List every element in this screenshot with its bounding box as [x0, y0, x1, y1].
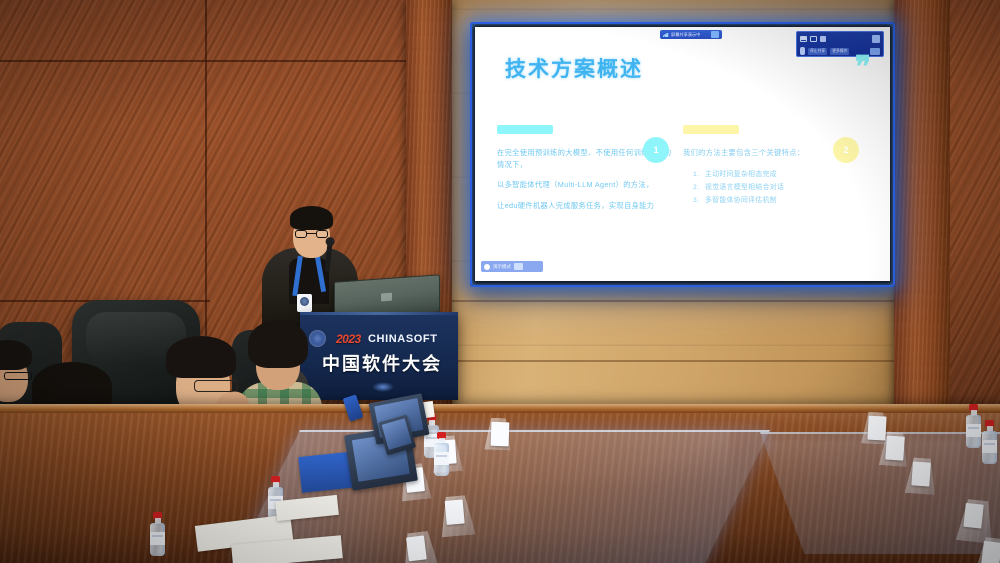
screen-share-status-bar[interactable]: 屏幕共享演示中 — [660, 30, 722, 39]
lens-left — [295, 230, 307, 238]
wall-seam — [0, 60, 450, 62]
stop-share-button[interactable]: 停止共享 — [808, 48, 827, 55]
alcove-seam — [447, 360, 894, 362]
card-line — [494, 422, 495, 439]
banner-brand-en: CHINASOFT — [368, 333, 438, 345]
bottle-label — [150, 532, 165, 545]
card-header — [982, 541, 984, 558]
water-bottle[interactable] — [150, 512, 168, 563]
card-line — [871, 416, 872, 433]
name-card-holder[interactable] — [484, 418, 511, 451]
wall-display[interactable]: 屏幕共享演示中 停止共享 更多操作 ❞ — [470, 22, 895, 287]
card-line — [921, 462, 922, 479]
card-line — [889, 436, 890, 453]
water-bottle[interactable] — [966, 404, 981, 448]
list-item-text: 主动时间复杂相态完成 — [705, 171, 777, 178]
screenshot-root: 屏幕共享演示中 停止共享 更多操作 ❞ — [0, 0, 1000, 563]
name-card — [981, 541, 1000, 563]
list-item-text: 视觉语言模型相结合对话 — [705, 184, 784, 191]
name-card-holder[interactable] — [438, 495, 475, 538]
card-line — [448, 501, 449, 518]
badge-circle-2: 2 — [833, 137, 859, 163]
share-status-label: 屏幕共享演示中 — [671, 32, 709, 38]
presenter-hair — [290, 206, 333, 230]
card-header — [868, 416, 869, 433]
card-header — [964, 503, 966, 520]
meeting-float-toolbar[interactable]: 停止共享 更多操作 — [796, 31, 884, 57]
card-header — [491, 422, 492, 439]
list-item: 2.视觉语言模型相结合对话 — [693, 181, 861, 194]
left-paragraph-2: 以多智能体代理（Multi-LLM Agent）的方法， — [497, 179, 675, 191]
card-line — [915, 462, 916, 479]
card-line — [967, 503, 969, 520]
footer-badge-label: 演示模式 — [493, 264, 511, 270]
water-bottle[interactable] — [982, 420, 997, 464]
slide-title: 技术方案概述 — [505, 53, 643, 83]
bottle-label — [434, 452, 449, 465]
slide-column-right: 我们的方法主要包含三个关键特点： 1.主动时间复杂相态完成 2.视觉语言模型相结… — [683, 125, 861, 207]
signal-bars-icon — [663, 32, 669, 37]
alcove-seam — [447, 300, 894, 302]
name-card — [406, 535, 427, 561]
lanyard-badge — [297, 294, 312, 312]
name-card-holder[interactable] — [400, 530, 441, 563]
list-item: 3.多智能体协同评估机制 — [693, 194, 861, 207]
stop-share-icon[interactable] — [820, 36, 826, 42]
glasses-bridge — [307, 233, 316, 234]
wood-pillar-right — [894, 0, 952, 430]
close-icon[interactable] — [872, 35, 880, 43]
maximize-icon[interactable] — [810, 36, 817, 42]
table-edge-trim — [0, 404, 1000, 413]
water-bottle[interactable] — [434, 432, 446, 468]
audio-wave-icon — [870, 48, 880, 55]
list-item: 1.主动时间复杂相态完成 — [693, 168, 861, 181]
microphone-icon[interactable] — [800, 47, 805, 55]
glasses-icon — [194, 380, 238, 392]
left-paragraph-3: 让edu硬件机器人完成服务任务，实现自身能力 — [497, 200, 675, 212]
bottle-label — [982, 440, 997, 453]
name-card — [885, 435, 905, 460]
name-card — [445, 499, 465, 524]
banner-year: 2023 — [336, 332, 361, 346]
card-line — [415, 536, 417, 553]
badge-circle-1: 1 — [643, 137, 669, 163]
name-card — [911, 461, 931, 486]
more-actions-button[interactable]: 更多操作 — [830, 48, 849, 55]
cast-icon[interactable] — [711, 31, 719, 38]
quote-decoration-icon: ❞ — [855, 59, 868, 77]
accent-bar-yellow — [683, 125, 739, 134]
card-line — [985, 541, 987, 558]
minimize-icon[interactable] — [800, 36, 807, 42]
accent-bar-cyan — [497, 125, 553, 134]
banner-brand-cn: 中国软件大会 — [322, 350, 442, 376]
record-dot-icon — [484, 264, 490, 270]
card-line — [409, 537, 411, 554]
name-card-holder[interactable] — [879, 431, 909, 467]
name-card — [963, 503, 983, 529]
list-item-number: 3. — [693, 194, 705, 207]
card-line — [973, 504, 975, 521]
podium-banner: 2023 CHINASOFT 中国软件大会 — [300, 312, 458, 400]
bottle-label — [966, 424, 981, 437]
person-hair — [32, 362, 112, 410]
lens-right — [316, 230, 328, 238]
wood-wall-right — [950, 0, 1000, 430]
name-card-holder[interactable] — [974, 536, 1000, 563]
card-line — [454, 500, 455, 517]
presentation-slide: 屏幕共享演示中 停止共享 更多操作 ❞ — [475, 27, 890, 281]
page-icon[interactable] — [514, 263, 523, 270]
list-item-text: 多智能体协同评估机制 — [705, 197, 777, 204]
right-numbered-list: 1.主动时间复杂相态完成 2.视觉语言模型相结合对话 3.多智能体协同评估机制 — [693, 168, 861, 208]
list-item-number: 1. — [693, 168, 705, 181]
name-card — [491, 422, 510, 447]
card-header — [886, 435, 887, 452]
glasses-icon — [295, 230, 328, 238]
slide-footer-badge[interactable]: 演示模式 — [481, 261, 543, 272]
list-item-number: 2. — [693, 181, 705, 194]
podium-light-glow — [372, 382, 394, 392]
name-card-holder[interactable] — [905, 457, 937, 495]
card-header — [912, 461, 913, 478]
